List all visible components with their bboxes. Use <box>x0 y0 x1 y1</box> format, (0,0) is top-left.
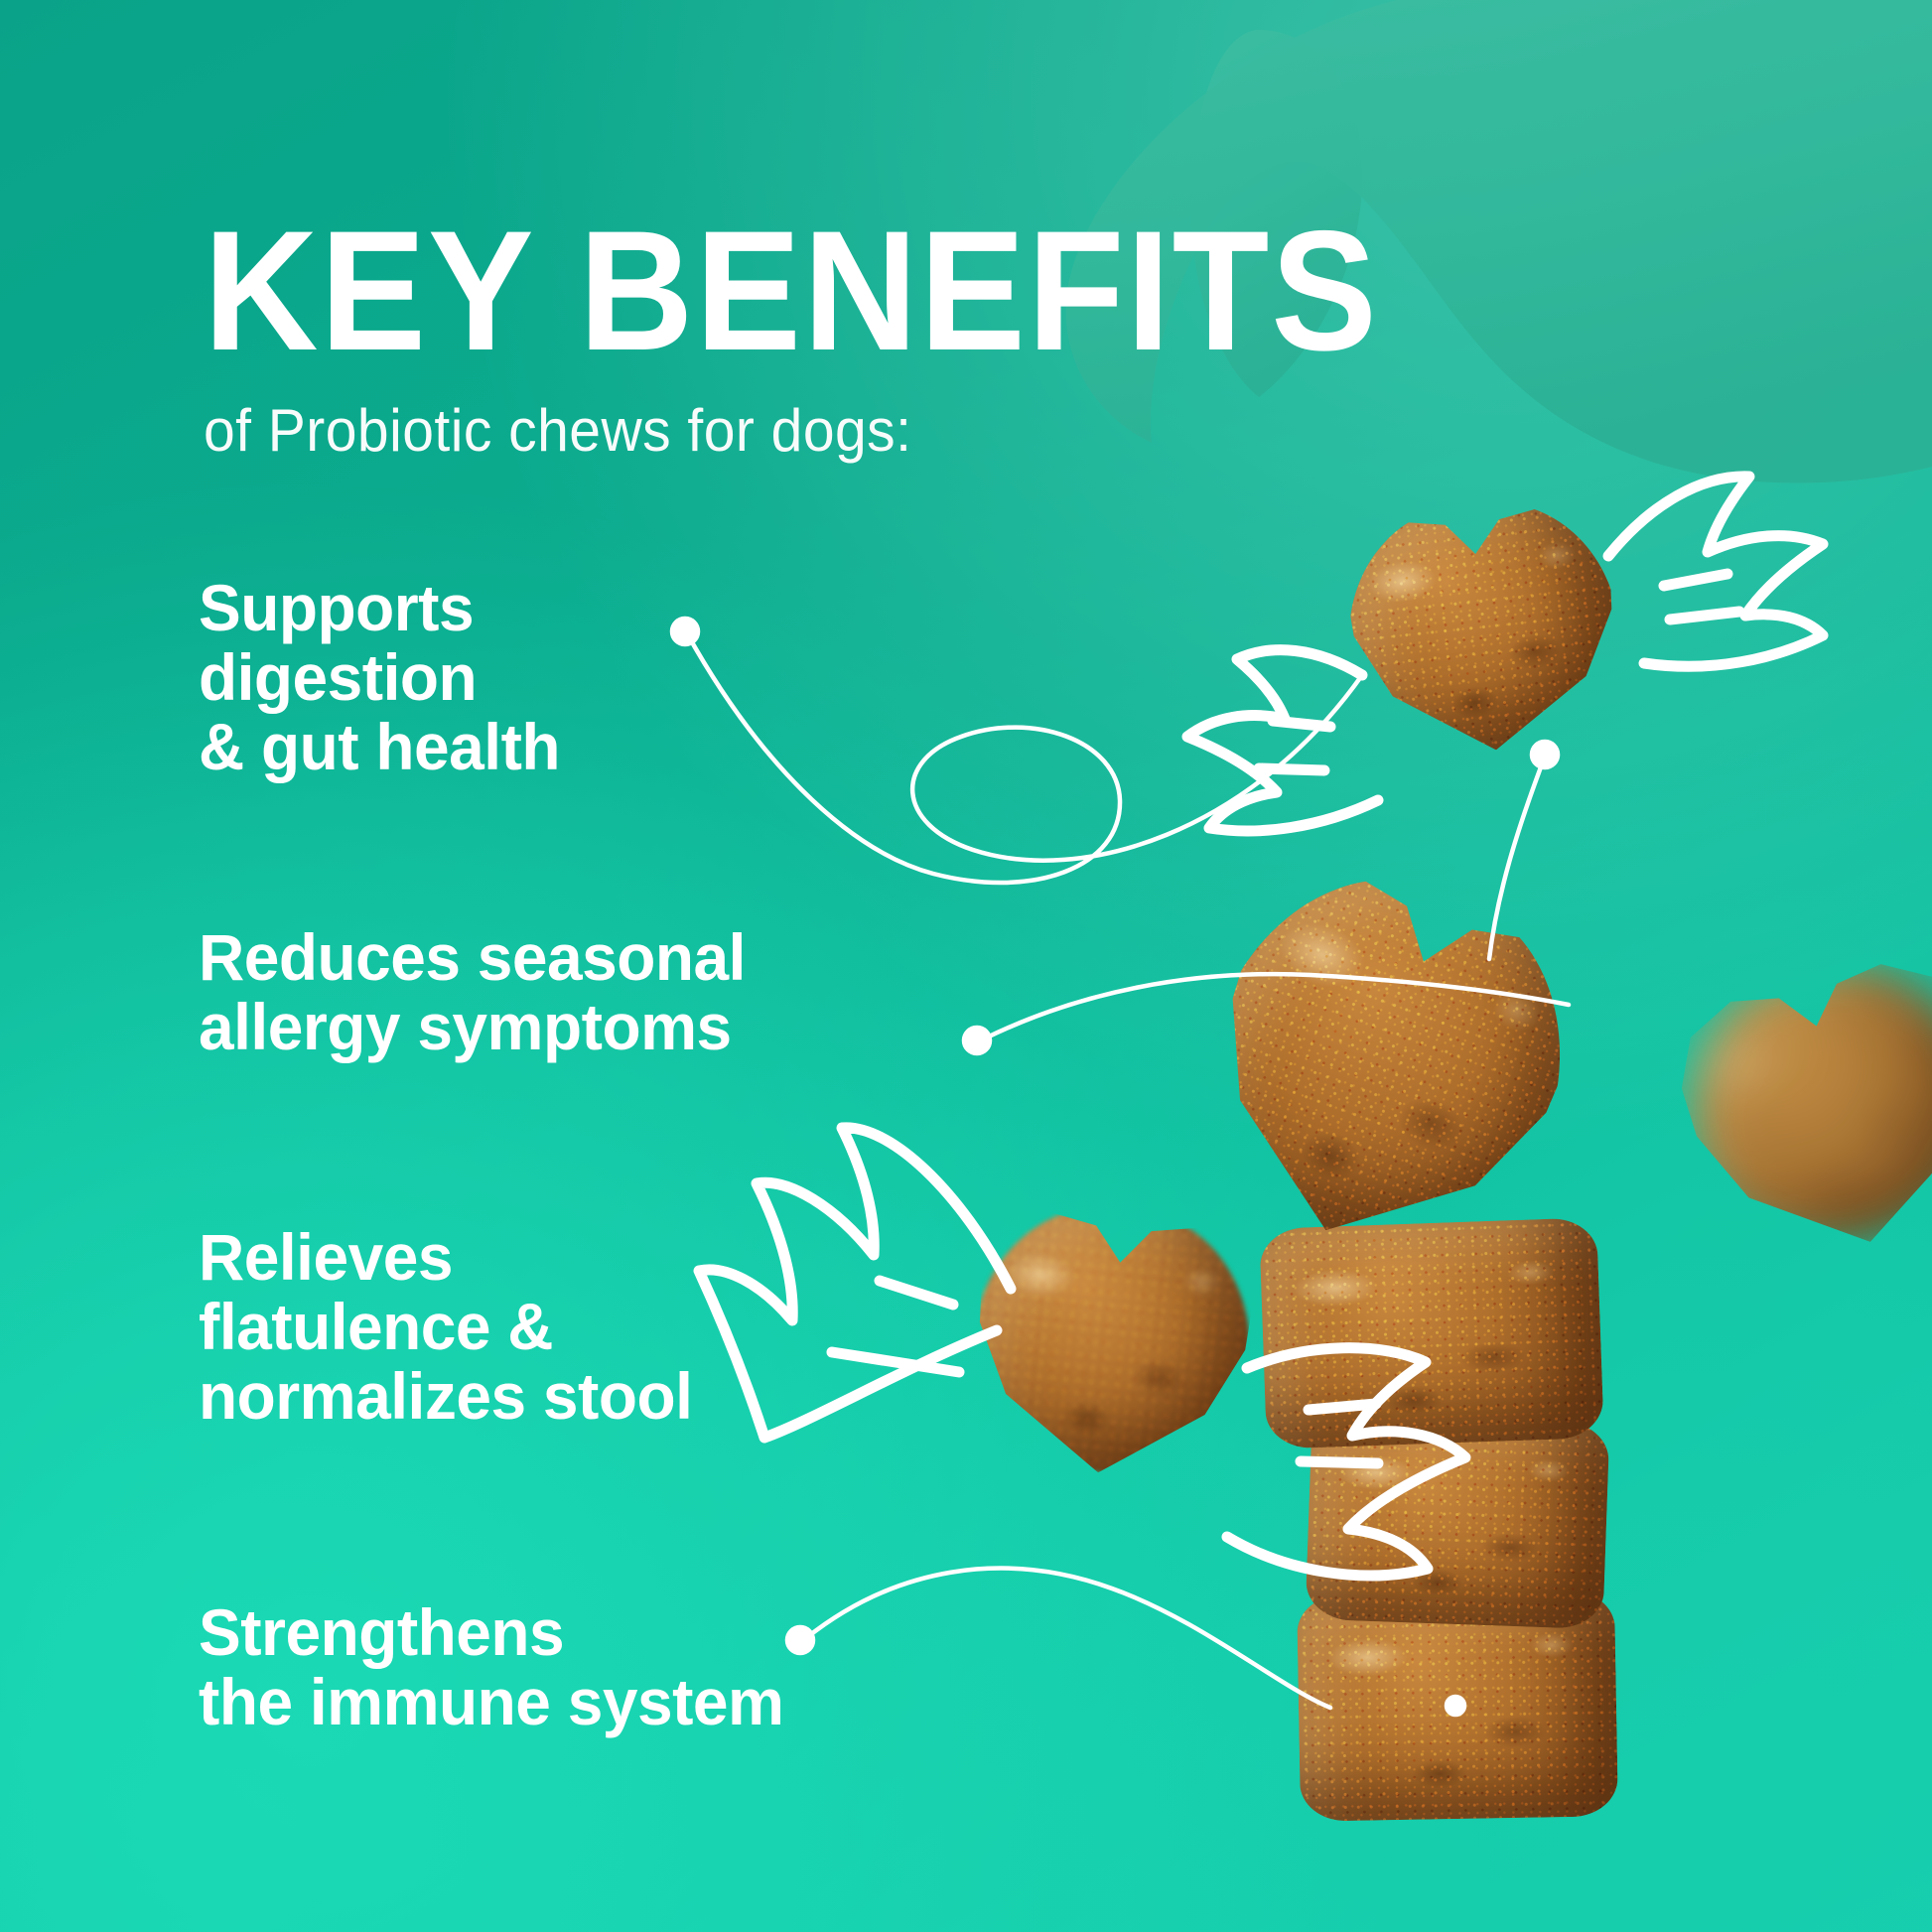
winged-chew-top <box>1336 490 1630 763</box>
connector-line <box>806 1569 1330 1708</box>
connector-dot <box>787 1627 813 1653</box>
winged-chew-middle <box>960 1195 1264 1487</box>
connector-dot <box>1532 742 1558 767</box>
headline-block: KEY BENEFITS of Probiotic chews for dogs… <box>204 208 1445 465</box>
page-title: KEY BENEFITS <box>204 208 1358 374</box>
benefit-item-4: Strengthens the immune system <box>199 1598 783 1737</box>
benefit-item-2: Reduces seasonal allergy symptoms <box>199 923 746 1062</box>
connector-line <box>687 633 1362 883</box>
wing-icon <box>1608 477 1823 666</box>
wing-icon <box>699 1128 1011 1438</box>
blurred-chew <box>1659 936 1932 1278</box>
poster-canvas: KEY BENEFITS of Probiotic chews for dogs… <box>0 0 1932 1932</box>
benefit-item-3: Relieves flatulence & normalizes stool <box>199 1223 692 1432</box>
connector-line <box>1489 757 1545 959</box>
chew-stack-item <box>1259 1217 1604 1449</box>
benefit-item-1: Supports digestion & gut health <box>199 574 560 782</box>
page-subtitle: of Probiotic chews for dogs: <box>204 396 1383 465</box>
wing-icon <box>1187 650 1378 831</box>
connector-dot <box>672 619 698 644</box>
connector-dot <box>964 1028 990 1053</box>
